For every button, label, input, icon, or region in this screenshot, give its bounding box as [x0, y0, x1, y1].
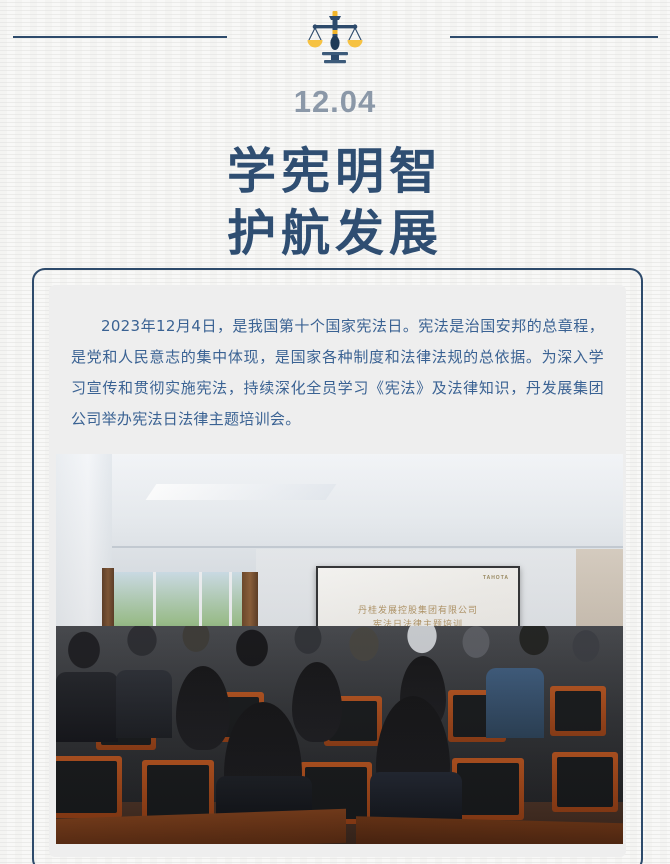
- chair: [452, 758, 524, 820]
- page-title-line-2: 护航发展: [0, 203, 670, 265]
- card-bottom-spacer: [56, 844, 619, 857]
- chair-backrest: [557, 757, 613, 807]
- article-body: 2023年12月4日，是我国第十个国家宪法日。宪法是治国安邦的总章程，是党和人民…: [49, 285, 626, 435]
- chair: [550, 686, 606, 736]
- page-title-line-1: 学宪明智: [0, 141, 670, 203]
- content-panel: 2023年12月4日，是我国第十个国家宪法日。宪法是治国安邦的总章程，是党和人民…: [49, 285, 626, 857]
- ceiling-light-recess: [146, 484, 337, 500]
- photo-scene: TAHOTA 丹桂发展控股集团有限公司 宪法日法律主题培训 主办：集团法务部 协…: [56, 454, 623, 844]
- chair: [552, 752, 618, 812]
- audience-seating-area: [56, 626, 623, 844]
- ceiling-edge-line: [56, 546, 623, 548]
- attendee-body: [486, 668, 544, 738]
- page-background: 12.04 学宪明智 护航发展 2023年12月4日，是我国第十个国家宪法日。宪…: [0, 0, 670, 864]
- slide-title-line-1: 丹桂发展控股集团有限公司: [318, 604, 518, 618]
- chair: [142, 760, 214, 822]
- page-title: 学宪明智 护航发展: [0, 141, 670, 265]
- chair: [56, 756, 122, 818]
- training-session-photo: TAHOTA 丹桂发展控股集团有限公司 宪法日法律主题培训 主办：集团法务部 协…: [56, 454, 623, 844]
- header: 12.04 学宪明智 护航发展: [0, 0, 670, 265]
- chair-backrest: [555, 691, 601, 731]
- chair-backrest: [457, 763, 519, 815]
- chair-backrest: [147, 765, 209, 817]
- divider-line-left: [13, 36, 227, 38]
- slide-logo-top: TAHOTA: [483, 575, 509, 581]
- divider-line-right: [450, 36, 658, 38]
- content-card: 2023年12月4日，是我国第十个国家宪法日。宪法是治国安邦的总章程，是党和人民…: [32, 268, 643, 864]
- attendee-body: [56, 672, 118, 742]
- event-date: 12.04: [0, 86, 670, 117]
- header-ornament-row: [0, 6, 670, 64]
- scales-of-justice-icon: [305, 10, 365, 66]
- chair-backrest: [56, 761, 117, 813]
- attendee-body: [116, 670, 172, 738]
